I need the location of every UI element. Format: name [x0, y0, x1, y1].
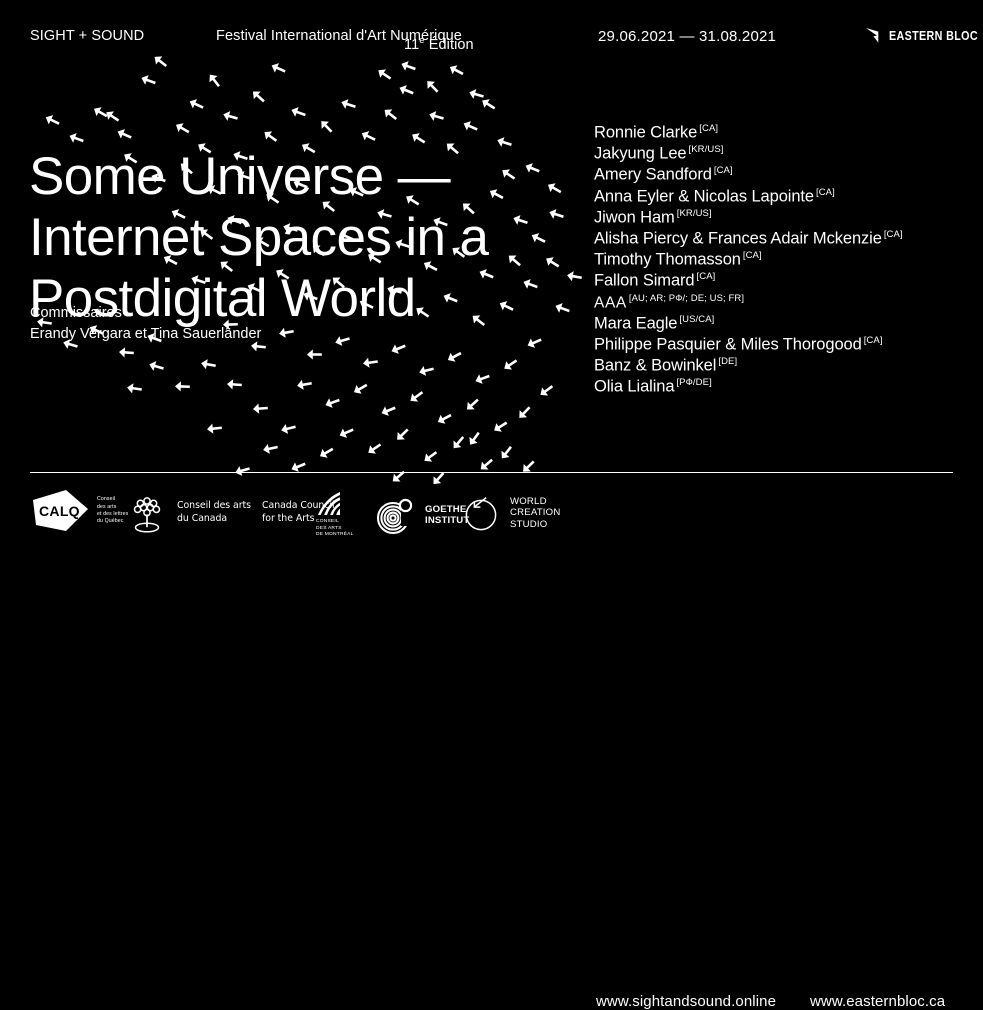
artist-name: Amery Sandford — [594, 166, 712, 184]
arrow-glyph-icon — [113, 123, 135, 145]
artist-name: Olia Lialina — [594, 378, 674, 396]
artist-row: Alisha Piercy & Frances Adair Mckenzie[C… — [594, 229, 903, 250]
artist-name: Ronnie Clarke — [594, 123, 697, 141]
artist-row: Jiwon Ham[KR/US] — [594, 208, 903, 229]
montreal-subtitle: CONSEIL DES ARTS DE MONTRÉAL — [316, 519, 354, 539]
arrow-glyph-icon — [516, 454, 540, 478]
eastern-bloc-wordmark: EASTERN BLOC — [889, 29, 978, 43]
artist-origin: [KR/US] — [688, 144, 723, 155]
arrow-glyph-icon — [419, 445, 443, 469]
artist-row: Banz & Bowinkel[DE] — [594, 356, 903, 377]
arrow-glyph-icon — [251, 399, 269, 417]
arrow-glyph-icon — [565, 267, 585, 287]
arrow-glyph-icon — [485, 183, 508, 206]
arrow-glyph-icon — [363, 437, 387, 461]
arrow-glyph-icon — [460, 392, 484, 416]
arrow-glyph-icon — [520, 274, 542, 296]
page-title: Some Universe — Internet Spaces in a Pos… — [29, 146, 488, 329]
arrow-glyph-icon — [335, 421, 357, 443]
artist-name: Jakyung Lee — [594, 145, 686, 163]
arrow-glyph-icon — [138, 70, 160, 92]
arrow-glyph-icon — [466, 84, 487, 105]
edition-label: 11e Édition — [404, 31, 474, 55]
arrow-glyph-icon — [338, 94, 359, 115]
artist-origin: [CA] — [714, 165, 733, 176]
artist-name: Philippe Pasquier & Miles Thorogood — [594, 335, 862, 353]
arrow-glyph-icon — [552, 298, 574, 320]
arrow-glyph-icon — [260, 438, 280, 458]
artist-origin: [CA] — [697, 271, 716, 282]
arrow-glyph-icon — [477, 93, 500, 116]
calq-wordmark: CALQ — [39, 503, 80, 519]
arrow-glyph-icon — [527, 227, 550, 250]
arrow-glyph-icon — [546, 204, 567, 225]
artist-name: Jiwon Ham — [594, 208, 675, 226]
artist-row: Timothy Thomasson[CA] — [594, 250, 903, 271]
arrow-glyph-icon — [416, 360, 437, 381]
arrow-glyph-icon — [377, 399, 399, 421]
arrow-glyph-icon — [433, 407, 456, 430]
arrow-glyph-icon — [349, 377, 372, 400]
artist-origin: [US/CA] — [679, 314, 714, 325]
arrow-glyph-icon — [125, 379, 144, 398]
artist-origin: [CA] — [699, 123, 718, 134]
arrow-glyph-icon — [315, 441, 338, 464]
artist-origin: [CA] — [816, 187, 835, 198]
calq-mark-icon: CALQ — [30, 490, 90, 532]
arrow-glyph-icon — [543, 177, 566, 200]
arrow-glyph-icon — [357, 125, 380, 148]
arrow-glyph-icon — [472, 368, 494, 390]
arrow-glyph-icon — [447, 431, 471, 455]
montreal-rays-icon — [316, 491, 342, 516]
artist-origin: [CA] — [884, 229, 903, 240]
arrow-glyph-icon — [203, 69, 227, 93]
canada-council-tree-icon — [126, 492, 168, 534]
edition-number: 11 — [404, 37, 419, 53]
arrow-glyph-icon — [499, 353, 523, 377]
artist-row: Amery Sandford[CA] — [594, 165, 903, 186]
arrow-glyph-icon — [146, 356, 167, 377]
artist-name: Banz & Bowinkel — [594, 356, 716, 374]
artist-name: Timothy Thomasson — [594, 250, 741, 268]
edition-word: Édition — [425, 37, 474, 53]
arrow-glyph-icon — [390, 422, 414, 446]
arrow-glyph-icon — [521, 157, 543, 179]
arrow-glyph-icon — [117, 343, 135, 361]
logo-world-creation-studio[interactable]: WORLD CREATION STUDIO — [461, 493, 560, 533]
arrow-glyph-icon — [535, 379, 559, 403]
arrow-glyph-icon — [295, 375, 315, 395]
arrow-glyph-icon — [426, 106, 447, 127]
poster-footer: CALQ Conseil des arts et des lettres du … — [0, 484, 983, 553]
artist-origin: [CA] — [743, 250, 762, 261]
artist-row: Fallon Simard[CA] — [594, 271, 903, 292]
arrow-glyph-icon — [489, 415, 512, 438]
arrow-glyph-icon — [322, 392, 344, 414]
url-sightandsound[interactable]: www.sightandsound.online — [596, 993, 776, 1010]
eastern-bloc-arrow-icon — [866, 28, 882, 43]
artist-name: Mara Eagle — [594, 314, 677, 332]
arrow-glyph-icon — [541, 251, 564, 274]
curators-block: Commissaires Erandy Vergara et Tina Saue… — [30, 303, 261, 345]
logo-conseil-arts-montreal[interactable]: CONSEIL DES ARTS DE MONTRÉAL — [316, 491, 354, 539]
brand-title: SIGHT + SOUND — [30, 27, 144, 46]
artist-name: Alisha Piercy & Frances Adair Mckenzie — [594, 229, 882, 247]
artist-origin: [PФ/DE] — [676, 377, 711, 388]
artist-row: Anna Eyler & Nicolas Lapointe[CA] — [594, 187, 903, 208]
arrow-glyph-icon — [220, 106, 241, 127]
arrow-glyph-icon — [387, 337, 409, 359]
arrow-glyph-icon — [41, 109, 64, 132]
arrow-glyph-icon — [494, 132, 515, 153]
goethe-spiral-icon — [375, 494, 417, 536]
arrow-glyph-icon — [174, 378, 192, 396]
artist-row: Mara Eagle[US/CA] — [594, 314, 903, 335]
curators-names: Erandy Vergara et Tina Sauerländer — [30, 324, 261, 345]
logo-canada-council[interactable]: Conseil des arts du Canada Canada Counci… — [126, 492, 335, 534]
festival-dates: 29.06.2021 — 31.08.2021 — [598, 27, 776, 46]
arrow-glyph-icon — [101, 105, 125, 129]
artist-name: Anna Eyler & Nicolas Lapointe — [594, 187, 814, 205]
arrow-glyph-icon — [523, 331, 545, 353]
arrow-glyph-icon — [497, 163, 521, 187]
arrow-glyph-icon — [185, 93, 208, 116]
artist-origin: [CA] — [864, 335, 883, 346]
arrow-glyph-icon — [306, 346, 323, 363]
arrow-glyph-icon — [379, 103, 403, 127]
arrow-glyph-icon — [246, 84, 270, 108]
arrow-glyph-icon — [443, 345, 466, 368]
artist-row: Philippe Pasquier & Miles Thorogood[CA] — [594, 335, 903, 356]
arrow-glyph-icon — [495, 295, 518, 318]
arrow-glyph-icon — [171, 117, 194, 140]
curators-label: Commissaires — [30, 303, 261, 324]
poster-root: SIGHT + SOUND Festival International d'A… — [0, 0, 983, 553]
logo-calq[interactable]: CALQ Conseil des arts et des lettres du … — [30, 490, 128, 532]
url-easternbloc[interactable]: www.easternbloc.ca — [810, 993, 945, 1010]
artist-origin: [KR/US] — [677, 208, 712, 219]
artist-row: Olia Lialina[PФ/DE] — [594, 377, 903, 398]
artist-row: Ronnie Clarke[CA] — [594, 123, 903, 144]
arrow-glyph-icon — [288, 102, 310, 124]
arrow-glyph-icon — [510, 210, 531, 231]
arrow-glyph-icon — [278, 418, 299, 439]
arrow-glyph-icon — [287, 455, 309, 477]
canada-council-fr: Conseil des arts du Canada — [177, 500, 251, 525]
arrow-glyph-icon — [405, 385, 429, 409]
world-creation-wordmark: WORLD CREATION STUDIO — [510, 496, 560, 531]
arrow-glyph-icon — [395, 79, 417, 101]
arrow-glyph-icon — [459, 115, 481, 137]
world-creation-circle-arrow-icon — [461, 493, 501, 533]
artist-row: Jakyung Lee[KR/US] — [594, 144, 903, 165]
arrow-glyph-icon — [205, 419, 224, 438]
artist-name: Fallon Simard — [594, 272, 695, 290]
arrow-glyph-icon — [495, 441, 519, 465]
artist-list: Ronnie Clarke[CA]Jakyung Lee[KR/US]Amery… — [594, 123, 903, 398]
artist-row: AAA[AU; AR; PФ/; DE; US; FR] — [594, 293, 903, 314]
arrow-glyph-icon — [89, 101, 112, 124]
artist-origin: [AU; AR; PФ/; DE; US; FR] — [629, 293, 744, 304]
canada-council-texts: Conseil des arts du Canada Canada Counci… — [177, 500, 335, 525]
logo-goethe-institut[interactable]: GOETHE INSTITUT — [375, 494, 469, 536]
arrow-glyph-icon — [503, 249, 527, 273]
arrow-glyph-icon — [232, 460, 253, 481]
arrow-glyph-icon — [225, 375, 243, 393]
arrow-glyph-icon — [463, 427, 487, 451]
eastern-bloc-logo[interactable]: EASTERN BLOC — [866, 28, 983, 43]
poster-header: SIGHT + SOUND Festival International d'A… — [0, 0, 983, 70]
calq-subtitle: Conseil des arts et des lettres du Québe… — [97, 496, 128, 526]
arrow-glyph-icon — [332, 330, 353, 351]
arrow-glyph-icon — [361, 353, 380, 372]
arrow-glyph-icon — [512, 400, 536, 424]
arrow-glyph-icon — [199, 355, 219, 375]
arrow-glyph-icon — [314, 114, 338, 138]
footer-divider — [30, 472, 953, 473]
arrow-glyph-icon — [420, 74, 444, 98]
artist-origin: [DE] — [718, 356, 737, 367]
artist-name: AAA — [594, 294, 627, 311]
